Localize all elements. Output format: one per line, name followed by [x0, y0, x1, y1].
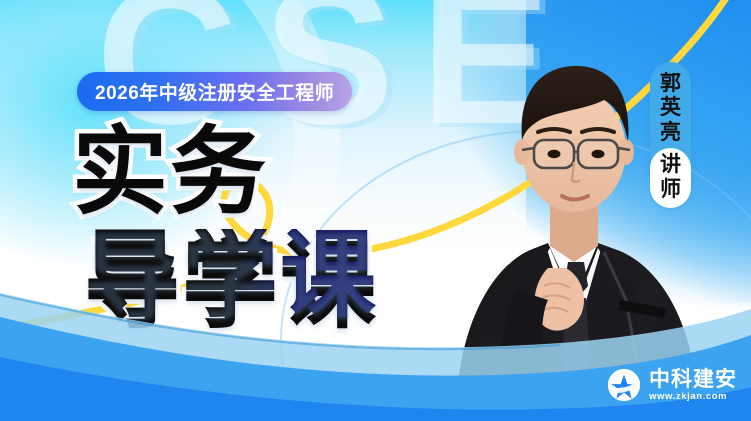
instructor-name-char-3: 亮	[660, 120, 681, 144]
instructor-name: 郭 英 亮	[660, 71, 681, 148]
brand-url: www.zkjan.com	[649, 390, 737, 403]
title-line-1: 实务	[72, 126, 378, 218]
instructor-role-badge: 讲 师	[650, 148, 691, 208]
brand-logo[interactable]: 中科建安 www.zkjan.com	[607, 368, 737, 403]
instructor-role-char-2: 师	[660, 177, 681, 202]
badge-label: 2026年中级注册安全工程师	[95, 78, 334, 105]
instructor-name-pill: 郭 英 亮 讲 师	[650, 62, 691, 208]
title-line-2: 导学课	[84, 229, 378, 321]
instructor-name-char-1: 郭	[660, 71, 681, 95]
instructor-name-char-2: 英	[660, 95, 681, 119]
brand-name: 中科建安	[649, 368, 737, 390]
course-title: 实务 导学课 导学课	[72, 126, 378, 321]
course-year-badge[interactable]: 2026年中级注册安全工程师	[77, 72, 352, 111]
course-banner: CSE CSE 2026年中级注册安全工程师 实务 导学课 导学课	[0, 0, 751, 421]
star-mountain-icon	[607, 368, 641, 402]
instructor-role-char-1: 讲	[660, 152, 681, 177]
